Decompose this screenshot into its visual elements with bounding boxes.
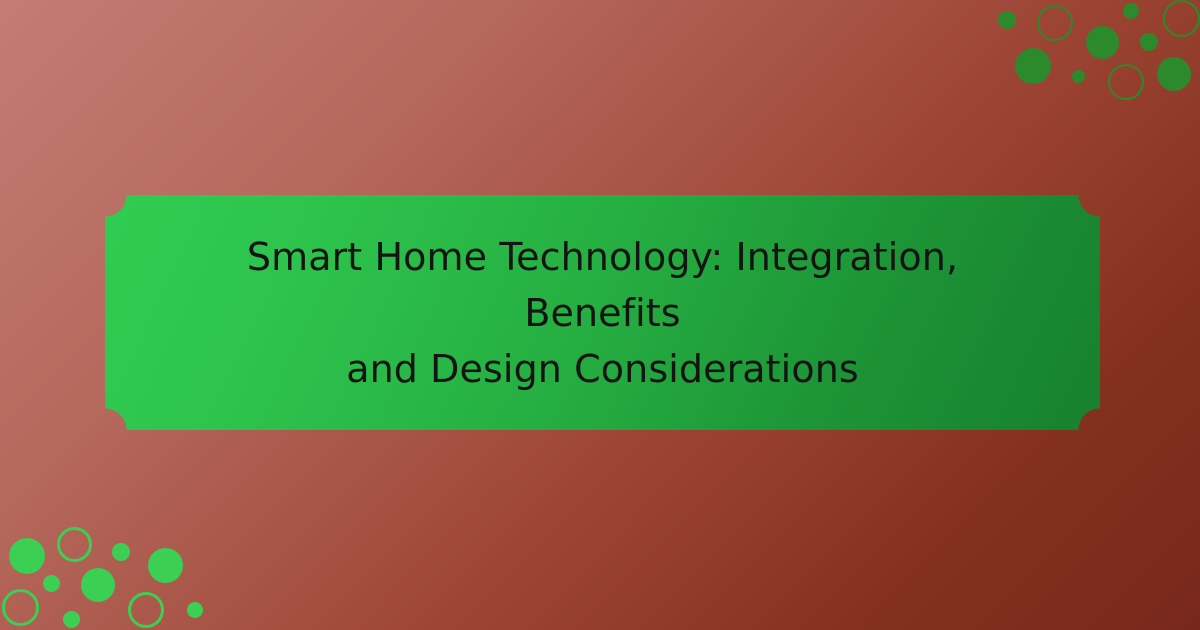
circle-large-filled-icon: [9, 538, 45, 574]
circle-ring-top-icon: [57, 527, 92, 562]
circle-tiny-filled-icon: [1072, 70, 1085, 83]
circle-ring-upper-icon: [1163, 0, 1200, 37]
circle-big-filled-icon: [1086, 26, 1119, 59]
circle-mid-filled-icon: [81, 568, 115, 602]
circle-tiny-filled-icon: [112, 543, 130, 561]
poster-canvas: Smart Home Technology: Integration, Bene…: [0, 0, 1200, 630]
circle-big-filled-icon: [148, 548, 183, 583]
circle-far-filled-icon: [187, 602, 203, 618]
circle-small-filled-icon: [998, 11, 1016, 29]
page-title: Smart Home Technology: Integration, Bene…: [105, 195, 1100, 430]
circle-large-filled-icon: [1015, 48, 1051, 84]
circle-xs-filled-icon: [63, 611, 80, 628]
circle-sm-filled-icon: [1140, 33, 1158, 51]
circle-ring-left-icon: [2, 589, 39, 626]
circle-ring-right-icon: [128, 592, 164, 628]
circle-cluster-top-right: [980, 0, 1200, 112]
circle-corner-filled-icon: [1157, 57, 1191, 91]
circle-medium-ring-icon: [1037, 5, 1073, 41]
circle-xs-filled-icon: [1123, 3, 1139, 19]
circle-sm-filled-icon: [43, 575, 60, 592]
circle-ring-lower-icon: [1108, 64, 1144, 100]
title-banner: Smart Home Technology: Integration, Bene…: [105, 195, 1100, 430]
circle-cluster-bottom-left: [0, 518, 232, 630]
